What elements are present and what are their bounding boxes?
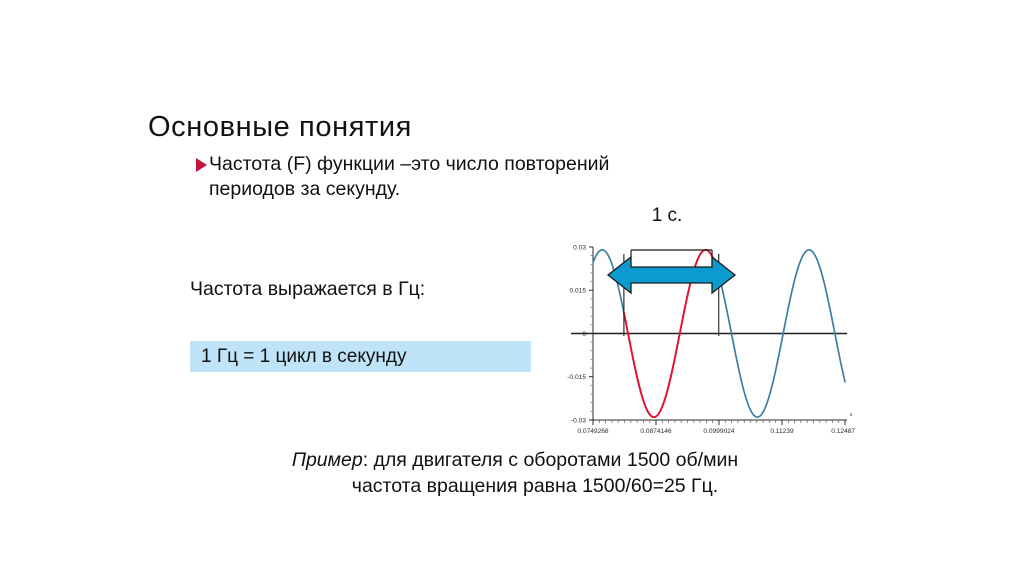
- span-duration-label: 1 с.: [612, 205, 722, 227]
- sine-wave-chart: 0.03 0.015 0 -0.015 -0.03 0.0749268 0.08…: [549, 200, 855, 438]
- x-tick-label-1: 0.0874146: [640, 428, 672, 435]
- y-tick-label-4: -0.03: [571, 417, 586, 424]
- page-title: Основные понятия: [148, 111, 412, 144]
- x-tick-label-3: 0.11239: [770, 428, 794, 435]
- y-tick-label-0: 0.03: [573, 244, 586, 251]
- slide-canvas: Основные понятия Частота (F) функции –эт…: [0, 0, 1024, 574]
- x-axis-unit-label: s: [850, 412, 853, 418]
- y-tick-label-3: -0.015: [567, 374, 586, 381]
- x-tick-label-0: 0.0749268: [577, 428, 609, 435]
- red-triangle-bullet-icon: [196, 158, 207, 172]
- example-block: Пример: для двигателя с оборотами 1500 о…: [190, 448, 840, 500]
- definition-highlight-box: 1 Гц = 1 цикл в секунду: [190, 341, 531, 372]
- x-tick-label-2: 0.0999024: [703, 428, 735, 435]
- example-label: Пример: [292, 449, 363, 471]
- example-line-1: : для двигателя с оборотами 1500 об/мин: [363, 449, 738, 471]
- hz-lead-text: Частота выражается в Гц:: [190, 278, 425, 301]
- definition-label: 1 Гц = 1 цикл в секунду: [190, 346, 406, 368]
- double-headed-arrow-icon: [608, 257, 735, 293]
- x-tick-label-4: 0.124878: [831, 428, 855, 435]
- y-tick-label-2: 0: [582, 331, 586, 338]
- y-tick-label-1: 0.015: [569, 288, 586, 295]
- chart-svg: 0.03 0.015 0 -0.015 -0.03 0.0749268 0.08…: [549, 200, 855, 438]
- bullet-item-label: Частота (F) функции –это число повторени…: [209, 152, 666, 202]
- bullet-block: Частота (F) функции –это число повторени…: [196, 152, 666, 202]
- example-line-2: частота вращения равна 1500/60=25 Гц.: [190, 474, 840, 500]
- bullet-row: Частота (F) функции –это число повторени…: [196, 152, 666, 202]
